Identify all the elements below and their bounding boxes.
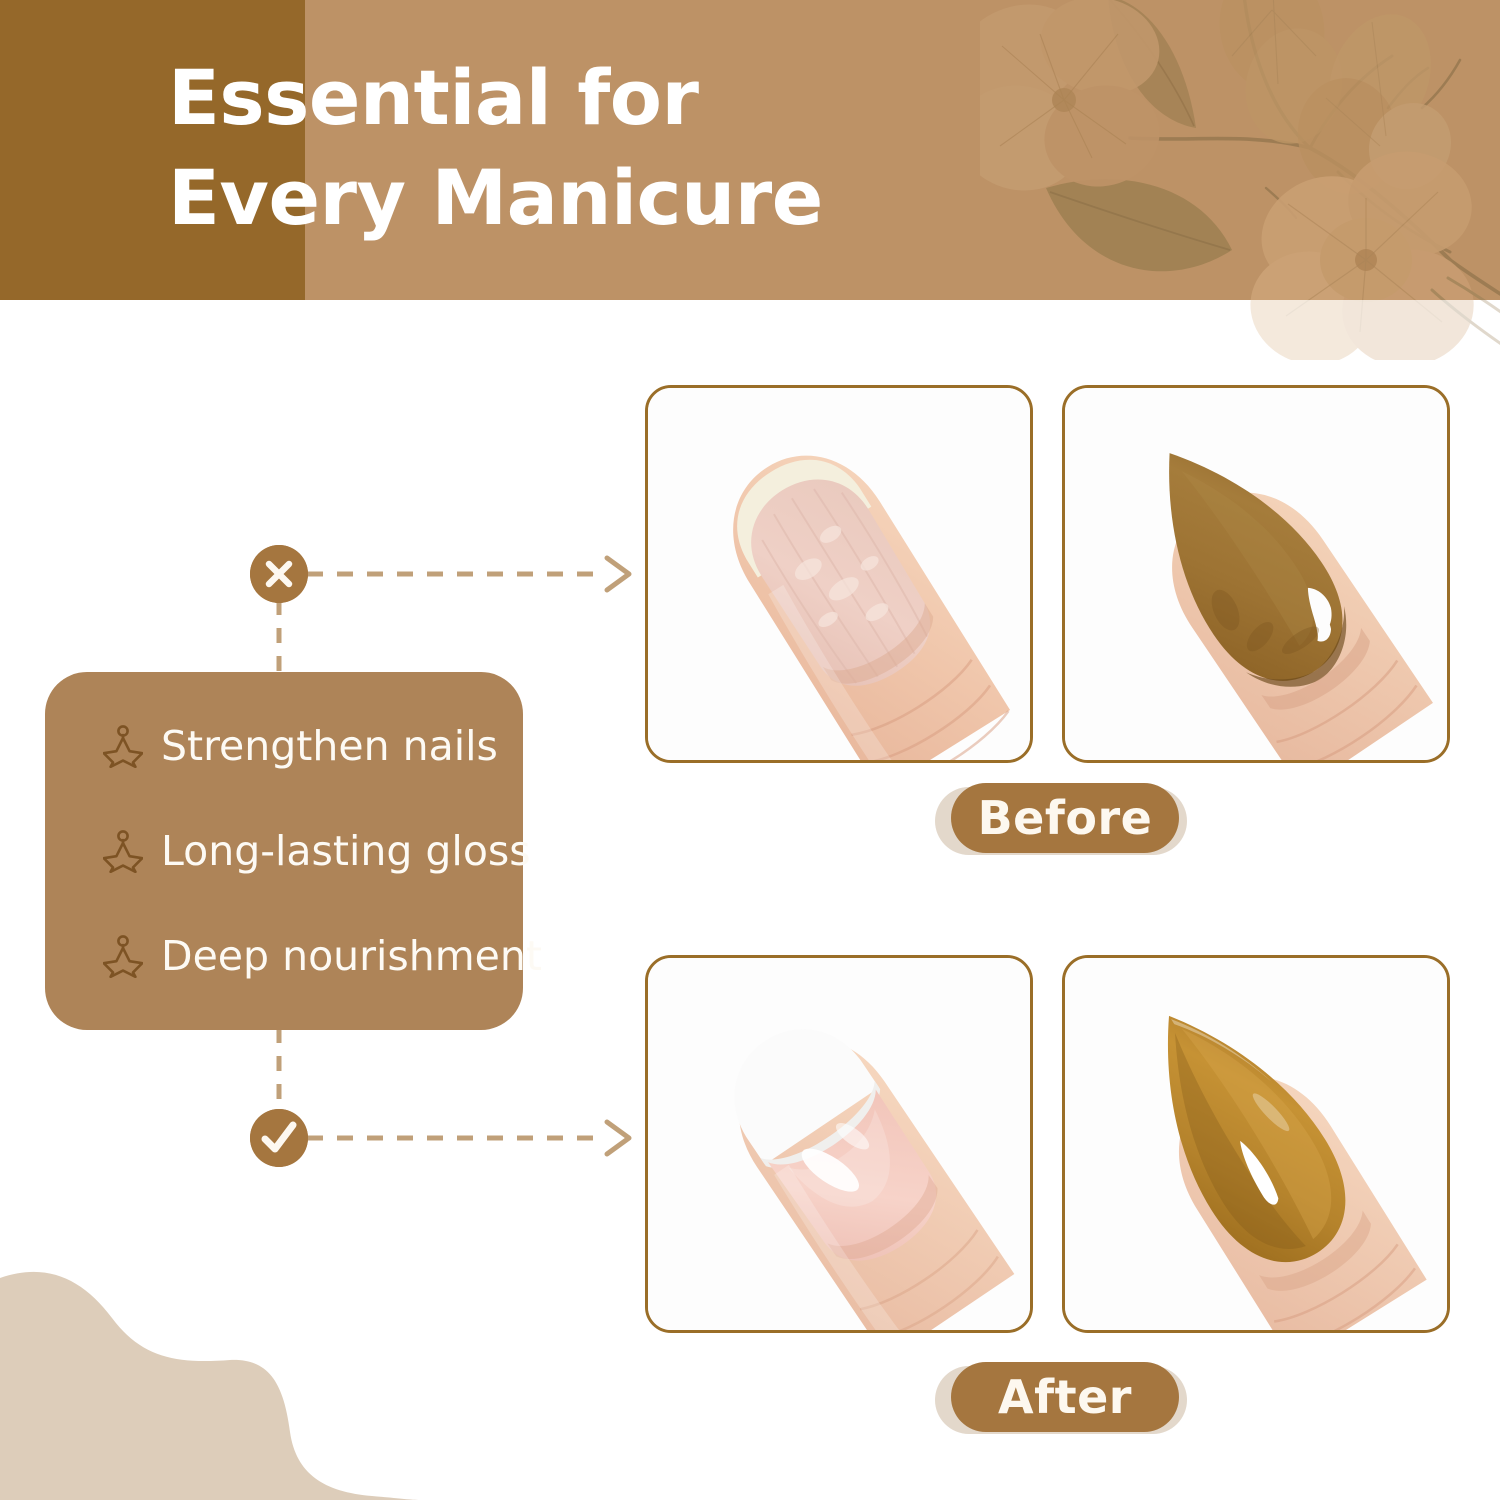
feature-list-box: Strengthen nails Long-lasting gloss bbox=[45, 672, 523, 1030]
check-mark-badge bbox=[250, 1109, 308, 1167]
photo-before-natural-nail bbox=[645, 385, 1033, 763]
photo-after-french-manicure bbox=[645, 955, 1033, 1333]
feature-label: Strengthen nails bbox=[161, 726, 498, 767]
connector-arrow-after bbox=[305, 1118, 635, 1158]
star-charm-icon bbox=[103, 724, 143, 768]
feature-item: Deep nourishment bbox=[103, 934, 542, 978]
star-charm-icon bbox=[103, 934, 143, 978]
feature-item: Strengthen nails bbox=[103, 724, 498, 768]
page-title: Essential for Every Manicure bbox=[168, 48, 928, 249]
badge-after: After bbox=[935, 1362, 1195, 1438]
feature-item: Long-lasting gloss bbox=[103, 829, 531, 873]
decorative-wave-shape bbox=[0, 1260, 420, 1500]
feature-label: Deep nourishment bbox=[161, 936, 542, 977]
connector-line-bottom bbox=[276, 1028, 282, 1114]
badge-before: Before bbox=[935, 783, 1195, 859]
connector-line-top bbox=[276, 600, 282, 680]
badge-label-after: After bbox=[951, 1362, 1179, 1432]
connector-arrow-before bbox=[305, 554, 635, 594]
x-mark-badge bbox=[250, 545, 308, 603]
photo-before-chipped-polish bbox=[1062, 385, 1450, 763]
photo-after-glossy-caramel bbox=[1062, 955, 1450, 1333]
feature-label: Long-lasting gloss bbox=[161, 831, 531, 872]
star-charm-icon bbox=[103, 829, 143, 873]
infographic-page: Essential for Every Manicure bbox=[0, 0, 1500, 1500]
badge-label-before: Before bbox=[951, 783, 1179, 853]
